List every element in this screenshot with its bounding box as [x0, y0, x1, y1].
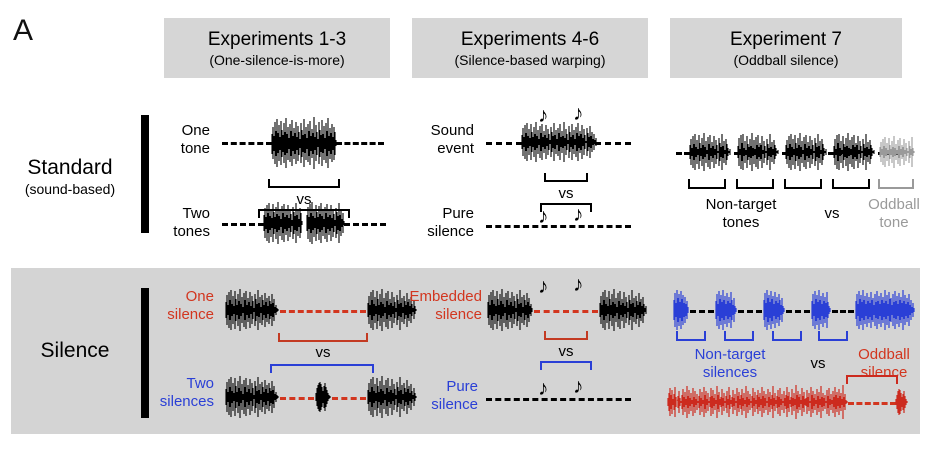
row-label-standard: Standard (sound-based) — [4, 155, 136, 198]
eighth-note-icon-7: ♪ — [538, 378, 549, 399]
stimulus-label-two-silences: Two silences — [152, 375, 214, 411]
baseline-dash-left — [222, 142, 272, 145]
baseline-dash-pure-silence-standard — [486, 225, 631, 228]
waveform-two-tones — [262, 199, 346, 247]
waveform-two-silences-right — [366, 375, 418, 419]
baseline-dash-red-embedded-silence — [534, 310, 598, 313]
baseline-dash-silence-gap-3 — [786, 310, 810, 313]
baseline-dash-silence-gap-1 — [690, 310, 714, 313]
baseline-dash-right-2 — [344, 223, 386, 226]
baseline-dash-red-oddball-silence — [848, 402, 896, 405]
caption-nontarget-tones: Non-target tones — [676, 196, 806, 232]
waveform-one-tone — [270, 114, 338, 172]
baseline-dash-pure-silence-bottom — [486, 398, 631, 401]
column-title: Experiments 4-6 — [461, 28, 599, 51]
column-title: Experiments 1-3 — [208, 28, 346, 51]
waveform-one-silence-left — [224, 288, 280, 332]
row-label-silence: Silence — [14, 338, 136, 363]
stimulus-label-pure-silence-standard: Pure silence — [412, 205, 474, 241]
stimulus-label-pure-silence-silence: Pure silence — [412, 378, 478, 414]
stimulus-label-embedded-silence: Embedded silence — [406, 288, 482, 324]
eighth-note-icon-3: ♪ — [538, 206, 549, 227]
waveform-two-silences-middle-burst — [314, 381, 332, 413]
waveform-nontarget-silence-3 — [762, 288, 786, 332]
column-subtitle: (One-silence-is-more) — [209, 51, 344, 69]
caption-nontarget-silences: Non-target silences — [664, 346, 796, 382]
stimulus-label-one-tone: One tone — [162, 122, 210, 158]
bracket-nontarget-4 — [832, 178, 870, 190]
baseline-dash-right-sound-event — [595, 142, 631, 145]
bracket-oddball-silence — [846, 374, 898, 386]
waveform-nontarget-tone-4 — [832, 132, 876, 172]
vs-label-exp13-silence: vs — [290, 345, 356, 361]
column-subtitle: (Oddball silence) — [733, 51, 838, 69]
standard-group-bar — [141, 115, 149, 233]
silence-group-bar — [141, 288, 149, 418]
bracket-two-silences — [270, 363, 374, 374]
stimulus-label-sound-event: Sound event — [412, 122, 474, 158]
baseline-dash-left-sound-event — [486, 142, 522, 145]
vs-label-exp7-silence: vs — [798, 356, 838, 372]
waveform-nontarget-silence-4 — [810, 288, 832, 332]
baseline-dash-right — [336, 142, 384, 145]
waveform-nontarget-tone-3 — [784, 132, 828, 172]
baseline-dash-silence-gap-2 — [738, 310, 762, 313]
column-header-experiment-7: Experiment 7 (Oddball silence) — [670, 18, 902, 78]
bracket-pure-silence-silence — [540, 360, 592, 371]
bracket-embedded-silence — [544, 330, 588, 341]
waveform-nontarget-tone-2 — [736, 132, 780, 172]
bracket-sound-event — [544, 172, 588, 183]
vs-label-exp7-standard: vs — [812, 206, 852, 222]
column-header-experiments-1-3: Experiments 1-3 (One-silence-is-more) — [164, 18, 390, 78]
baseline-dash-red-one-silence — [280, 310, 366, 313]
waveform-two-silences-left — [224, 375, 280, 419]
row-label-main: Standard — [4, 155, 136, 180]
bracket-nontarget-silence-1 — [676, 330, 706, 342]
panel-letter: A — [13, 16, 33, 46]
waveform-nontarget-silence-2 — [714, 288, 738, 332]
baseline-dash-silence-gap-4 — [832, 310, 854, 313]
bracket-nontarget-silence-3 — [772, 330, 802, 342]
bracket-one-tone — [268, 178, 340, 189]
baseline-dash-red-two-silences-1 — [280, 397, 314, 400]
row-label-main: Silence — [14, 338, 136, 363]
row-label-sub: (sound-based) — [4, 180, 136, 198]
stimulus-label-two-tones: Two tones — [158, 205, 210, 241]
bracket-one-silence — [278, 332, 368, 343]
waveform-oddball-silence-end-burst — [894, 388, 914, 416]
vs-label-exp46-silence: vs — [534, 344, 598, 360]
bracket-nontarget-1 — [688, 178, 726, 190]
waveform-silence-tail — [854, 288, 916, 332]
eighth-note-icon-5: ♪ — [538, 276, 549, 297]
bracket-nontarget-3 — [784, 178, 822, 190]
waveform-oddball-tone — [878, 134, 916, 170]
waveform-embedded-silence-left — [486, 288, 534, 332]
bracket-nontarget-2 — [736, 178, 774, 190]
waveform-sound-event — [520, 120, 598, 164]
stimulus-label-one-silence: One silence — [158, 288, 214, 324]
bracket-nontarget-silence-2 — [724, 330, 754, 342]
caption-oddball-tone: Oddball tone — [852, 196, 936, 232]
column-subtitle: (Silence-based warping) — [455, 51, 606, 69]
waveform-nontarget-silence-1 — [672, 288, 690, 332]
eighth-note-icon-6: ♪ — [573, 274, 584, 295]
waveform-embedded-silence-right — [598, 288, 648, 332]
bracket-oddball-tone — [878, 178, 914, 190]
eighth-note-icon-8: ♪ — [573, 376, 584, 397]
bracket-nontarget-silence-4 — [818, 330, 848, 342]
waveform-nontarget-tone-1 — [688, 132, 732, 172]
column-header-experiments-4-6: Experiments 4-6 (Silence-based warping) — [412, 18, 648, 78]
column-title: Experiment 7 — [730, 28, 842, 51]
figure-panel-a: A Experiments 1-3 (One-silence-is-more) … — [0, 0, 937, 454]
baseline-dash-red-two-silences-2 — [332, 397, 366, 400]
eighth-note-icon-4: ♪ — [573, 204, 584, 225]
vs-label-exp46-standard: vs — [534, 186, 598, 202]
baseline-dash-left-2 — [222, 223, 264, 226]
